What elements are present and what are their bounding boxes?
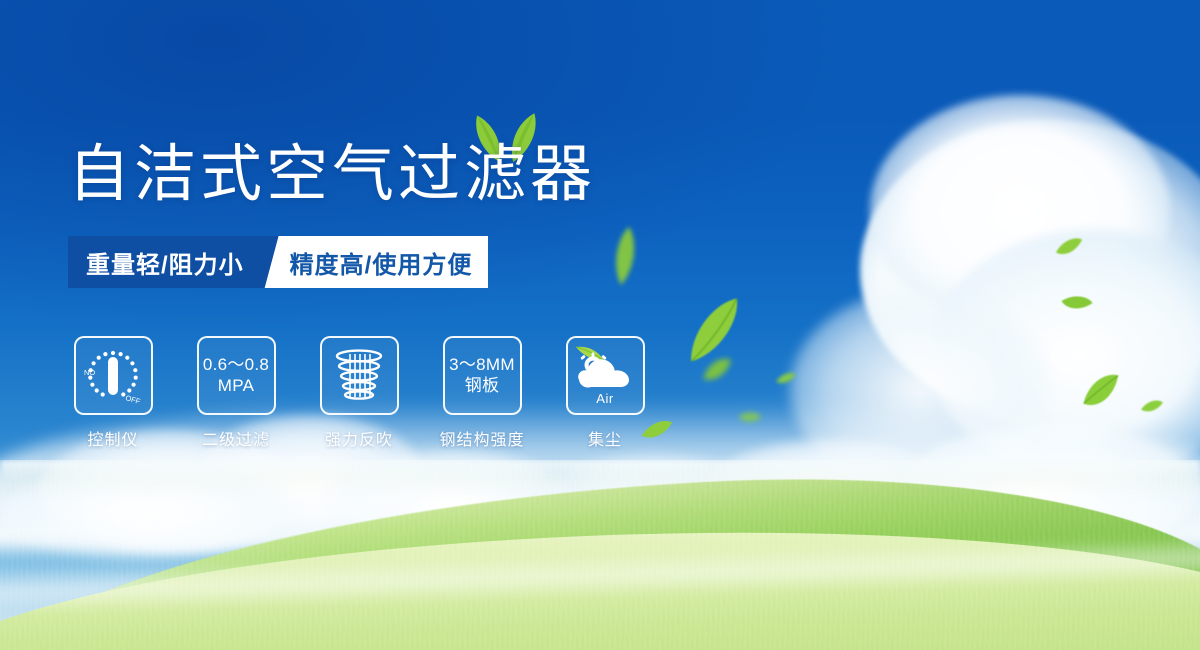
steel-material: 钢板 — [465, 376, 500, 397]
feature-item-filtration[interactable]: 0.6〜0.8 MPA 二级过滤 — [191, 336, 281, 450]
floating-leaf-8-icon — [1073, 365, 1129, 415]
feature-item-steel[interactable]: 3〜8MM 钢板 钢结构强度 — [437, 336, 527, 450]
feature-item-blowback[interactable]: 强力反吹 — [314, 336, 404, 450]
subtitle-bar: 重量轻/阻力小 精度高/使用方便 — [68, 236, 488, 288]
feature-label: 集尘 — [588, 426, 622, 450]
control-dial-icon: NO OFF — [74, 336, 153, 415]
dial-off-label: OFF — [124, 393, 141, 405]
page-title: 自洁式空气过滤器 — [68, 140, 596, 209]
floating-leaf-3-icon — [697, 350, 738, 387]
feature-label: 钢结构强度 — [439, 426, 524, 450]
floating-leaf-9-icon — [1139, 397, 1165, 415]
cloud-air-icon: Air — [566, 336, 645, 415]
cloud-right-lower — [930, 230, 1200, 480]
grass-field — [0, 460, 1200, 650]
grass-texture — [0, 460, 1200, 650]
pressure-value: 0.6〜0.8 — [203, 355, 269, 376]
feature-label: 二级过滤 — [202, 426, 270, 450]
feature-label: 控制仪 — [87, 426, 138, 450]
pressure-unit: MPA — [218, 376, 254, 397]
subtitle-right: 精度高/使用方便 — [286, 236, 489, 288]
floating-leaf-4-icon — [774, 369, 798, 388]
feature-label: 强力反吹 — [325, 426, 393, 450]
promo-banner: 自洁式空气过滤器 重量轻/阻力小 精度高/使用方便 — [0, 0, 1200, 650]
floating-leaf-1-icon — [608, 223, 642, 288]
subtitle-left: 重量轻/阻力小 — [68, 236, 260, 288]
feature-item-dust[interactable]: Air 集尘 — [560, 336, 650, 450]
dial-on-label: NO — [84, 368, 95, 377]
steel-text-box: 3〜8MM 钢板 — [443, 336, 522, 415]
cloud-air-caption: Air — [568, 391, 643, 406]
cloud-right-large — [860, 120, 1200, 420]
filter-cartridge-icon — [320, 336, 399, 415]
pressure-text-box: 0.6〜0.8 MPA — [197, 336, 276, 415]
subtitle-divider-wedge — [260, 236, 286, 288]
floating-leaf-7-icon — [1058, 286, 1096, 319]
feature-list: NO OFF 控制仪 0.6〜0.8 MPA 二级过滤 — [68, 336, 650, 450]
steel-thickness: 3〜8MM — [449, 355, 515, 376]
floating-leaf-5-icon — [736, 405, 764, 428]
cloud-right-upper — [870, 95, 1170, 325]
floating-leaf-6-icon — [1052, 232, 1086, 260]
floating-leaf-2-icon — [674, 286, 753, 374]
feature-item-control[interactable]: NO OFF 控制仪 — [68, 336, 158, 450]
